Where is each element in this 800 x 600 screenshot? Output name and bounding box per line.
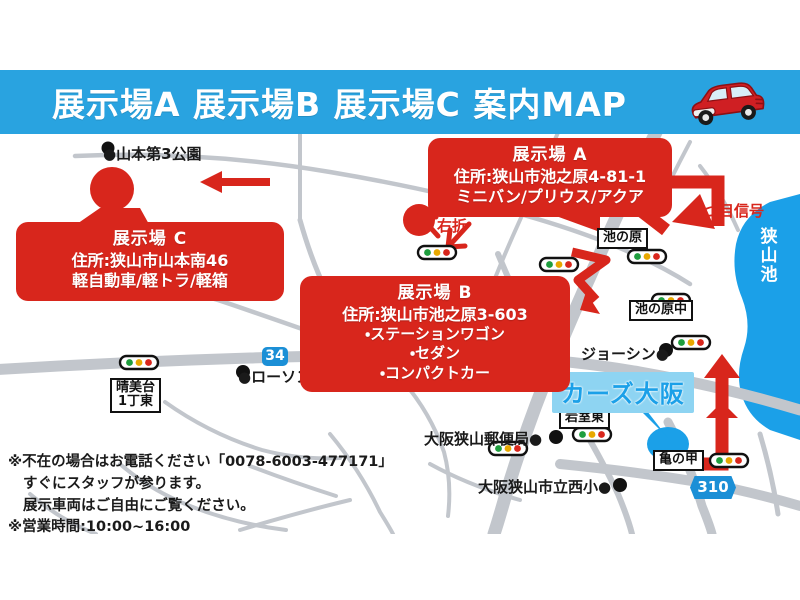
note-line-4: ※営業時間:10:00~16:00 xyxy=(8,517,428,539)
route-shield-34: 34 xyxy=(262,347,288,366)
poi-label-post-office: 大阪狭山郵便局● xyxy=(424,428,542,449)
black-dot-icon: ● xyxy=(103,145,116,163)
poi-label-yamamoto-park: ●山本第3公園 xyxy=(103,143,202,164)
callout-c-title: 展示場 C xyxy=(26,229,274,251)
intersection-harumidai: 晴美台 1丁東 xyxy=(110,378,161,413)
callout-c-address: 住所:狭山市山本南46 xyxy=(26,251,274,271)
callout-showroom-b: 展示場 B 住所:狭山市池之原3-603 ・ステーションワゴン ・セダン ・コン… xyxy=(300,276,570,392)
header-banner: 展示場A 展示場B 展示場C 案内MAP xyxy=(0,70,800,134)
callout-b-item-1: ・セダン xyxy=(310,344,560,363)
note-line-2: すぐにスタッフが参ります。 xyxy=(8,474,428,496)
callout-b-address: 住所:狭山市池之原3-603 xyxy=(310,305,560,325)
callout-a-vehicles: ミニバン/プリウス/アクア xyxy=(438,187,662,207)
footer-notes: ※不在の場合はお電話ください「0078-6003-477171」 すぐにスタッフ… xyxy=(8,452,428,539)
callout-b-item-2: ・コンパクトカー xyxy=(310,364,560,383)
route-arrow-left-top xyxy=(200,171,270,193)
intersection-ikenohara-naka: 池の原中 xyxy=(629,300,693,321)
right-turn-label: 右折 xyxy=(437,215,467,236)
callout-showroom-a: 展示場 A 住所:狭山市池之原4-81-1 ミニバン/プリウス/アクア xyxy=(428,138,672,217)
note-line-3: 展示車両はご自由にご覧ください。 xyxy=(8,496,428,518)
third-signal-label: 三つ目信号 xyxy=(689,200,764,221)
lake-label-sayamaike: 狭山池 xyxy=(758,228,780,285)
page-title: 展示場A 展示場B 展示場C 案内MAP xyxy=(52,78,627,126)
callout-a-title: 展示場 A xyxy=(438,145,662,167)
callout-a-address: 住所:狭山市池之原4-81-1 xyxy=(438,167,662,187)
black-dot-icon: ● xyxy=(238,368,251,386)
destination-label-cars-osaka: カーズ大阪 xyxy=(552,372,694,413)
black-dot-icon: ● xyxy=(529,430,542,448)
black-dot-icon: ● xyxy=(598,478,611,496)
note-line-1: ※不在の場合はお電話ください「0078-6003-477171」 xyxy=(8,452,428,474)
callout-b-title: 展示場 B xyxy=(310,283,560,305)
route-shield-310: 310 xyxy=(690,476,736,499)
intersection-ikenohara: 池の原 xyxy=(597,228,648,249)
red-car-icon xyxy=(684,76,768,128)
intersection-kamenoko: 亀の甲 xyxy=(653,450,704,471)
black-dot-icon: ● xyxy=(656,345,669,363)
map-flyer-canvas: 展示場A 展示場B 展示場C 案内MAP xyxy=(0,0,800,600)
callout-showroom-c: 展示場 C 住所:狭山市山本南46 軽自動車/軽トラ/軽箱 xyxy=(16,222,284,301)
poi-label-joshin: ジョーシン● xyxy=(581,343,669,364)
callout-b-item-0: ・ステーションワゴン xyxy=(310,325,560,344)
route-node-c xyxy=(90,167,134,211)
poi-label-nishi-elementary: 大阪狭山市立西小● xyxy=(478,476,611,497)
callout-c-vehicles: 軽自動車/軽トラ/軽箱 xyxy=(26,271,274,291)
